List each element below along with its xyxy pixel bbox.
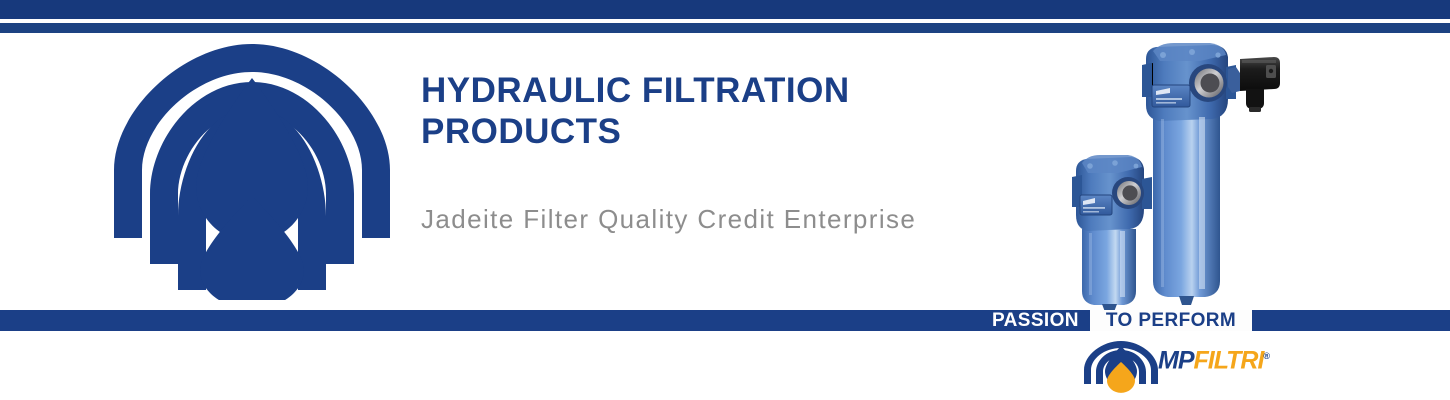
- jadeite-droplet-logo: [112, 42, 392, 300]
- page-title: HYDRAULIC FILTRATION PRODUCTS: [421, 70, 1041, 152]
- tall-pressure-filter: [1142, 43, 1280, 305]
- mpfiltri-text-filtri: FILTRI: [1194, 346, 1264, 374]
- short-pressure-filter: [1072, 155, 1152, 311]
- hydraulic-filter-housings-photo: [1060, 33, 1308, 311]
- mpfiltri-wordmark: MPFILTRI®: [1158, 342, 1270, 370]
- mpfiltri-logo: MPFILTRI®: [1082, 340, 1262, 396]
- slogan-to-perform: TO PERFORM: [1106, 310, 1236, 332]
- mpfiltri-droplet-mark: [1082, 340, 1160, 396]
- page-subtitle: Jadeite Filter Quality Credit Enterprise: [421, 152, 1041, 234]
- page-banner: HYDRAULIC FILTRATION PRODUCTS Jadeite Fi…: [0, 0, 1450, 400]
- top-rule-thick: [0, 0, 1450, 19]
- slogan-to-perform-plate: TO PERFORM: [1090, 310, 1252, 331]
- top-rule-thin: [0, 23, 1450, 33]
- registered-trademark-icon: ®: [1263, 351, 1270, 361]
- slogan-passion: PASSION: [992, 310, 1079, 331]
- headline-block: HYDRAULIC FILTRATION PRODUCTS Jadeite Fi…: [421, 70, 1041, 234]
- mpfiltri-text-mp: MP: [1158, 346, 1194, 374]
